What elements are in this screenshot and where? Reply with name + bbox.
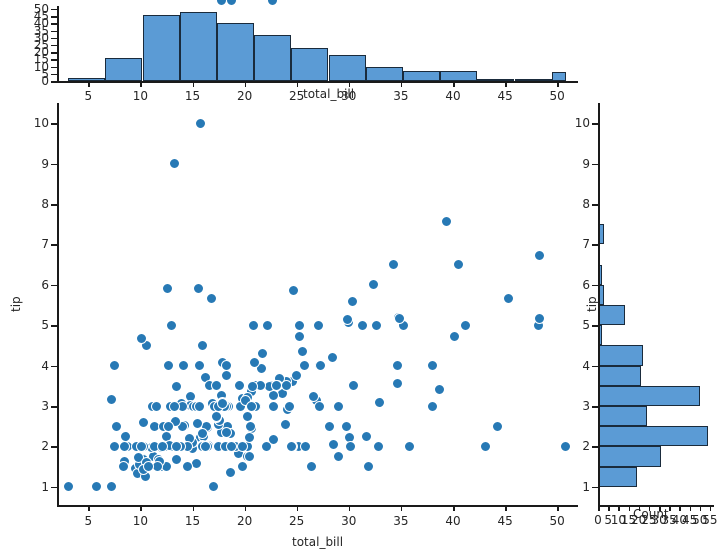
main-x-tick <box>193 505 195 511</box>
scatter-point <box>327 352 338 363</box>
right-x-tick <box>679 505 681 511</box>
scatter-point <box>109 441 120 452</box>
right-y-tick <box>592 446 598 448</box>
right-histogram-y-label: tip <box>586 296 598 312</box>
right-y-tick <box>592 487 598 489</box>
scatter-point <box>163 360 174 371</box>
right-x-tick <box>618 505 620 511</box>
right-histogram-bar <box>598 426 708 446</box>
scatter-point <box>300 441 311 452</box>
right-histogram-bar <box>598 386 700 406</box>
right-x-tick <box>598 505 600 511</box>
scatter-point <box>244 451 255 462</box>
scatter-point <box>217 398 228 409</box>
scatter-point <box>225 467 236 478</box>
scatter-point <box>166 320 177 331</box>
scatter-point <box>268 390 279 401</box>
scatter-point <box>286 441 297 452</box>
scatter-point <box>348 380 359 391</box>
scatter-point <box>460 320 471 331</box>
main-x-tick <box>401 505 403 511</box>
right-x-tick <box>669 505 671 511</box>
right-y-tick-label: 9 <box>568 158 590 170</box>
main-y-tick-label: 6 <box>27 279 49 291</box>
right-y-tick <box>592 164 598 166</box>
right-x-tick-label: 55 <box>701 514 719 526</box>
main-x-tick-label: 30 <box>340 515 358 527</box>
right-histogram-bar <box>598 446 661 466</box>
scatter-point <box>324 421 335 432</box>
scatter-point <box>109 360 120 371</box>
scatter-point <box>492 421 503 432</box>
scatter-point <box>388 259 399 270</box>
scatter-point <box>371 320 382 331</box>
scatter-point <box>226 0 237 6</box>
main-x-tick-label: 15 <box>184 515 202 527</box>
right-y-tick-label: 3 <box>568 400 590 412</box>
main-x-tick-label: 35 <box>392 515 410 527</box>
scatter-point <box>245 421 256 432</box>
right-y-tick-label: 2 <box>568 440 590 452</box>
main-x-tick <box>453 505 455 511</box>
main-y-tick-label: 5 <box>27 319 49 331</box>
main-y-tick-label: 4 <box>27 360 49 372</box>
scatter-point <box>200 441 211 452</box>
main-y-tick <box>51 204 57 206</box>
scatter-point <box>162 283 173 294</box>
scatter-point <box>182 461 193 472</box>
right-y-tick-label: 8 <box>568 198 590 210</box>
scatter-point <box>171 441 182 452</box>
scatter-point <box>291 370 302 381</box>
scatter-point <box>171 381 182 392</box>
scatter-point <box>136 333 147 344</box>
scatter-point <box>394 313 405 324</box>
scatter-point <box>333 401 344 412</box>
scatter-point <box>143 461 154 472</box>
main-y-tick-label: 7 <box>27 238 49 250</box>
scatter-point <box>211 411 222 422</box>
right-y-tick <box>592 204 598 206</box>
scatter-point <box>503 293 514 304</box>
scatter-point <box>171 454 182 465</box>
scatter-point <box>163 421 174 432</box>
scatter-point <box>342 314 353 325</box>
main-x-tick <box>245 505 247 511</box>
main-x-tick-label: 40 <box>444 515 462 527</box>
scatter-point <box>197 340 208 351</box>
main-x-spine <box>57 505 578 507</box>
main-x-tick <box>88 505 90 511</box>
scatter-point <box>234 380 245 391</box>
right-x-tick <box>690 505 692 511</box>
main-x-tick-label: 25 <box>288 515 306 527</box>
scatter-point <box>191 458 202 469</box>
right-y-tick-label: 7 <box>568 238 590 250</box>
scatter-point <box>138 417 149 428</box>
scatter-point <box>281 380 292 391</box>
scatter-point <box>118 461 129 472</box>
main-y-tick-label: 2 <box>27 440 49 452</box>
scatter-point <box>294 320 305 331</box>
main-x-tick <box>505 505 507 511</box>
scatter-point <box>313 320 324 331</box>
right-y-tick-label: 1 <box>568 481 590 493</box>
jointplot-figure: 05101520253035404550 5101520253035404550… <box>0 0 723 559</box>
scatter-point <box>246 401 257 412</box>
scatter-point <box>194 401 205 412</box>
main-x-tick-label: 5 <box>79 515 97 527</box>
right-y-tick-label: 6 <box>568 279 590 291</box>
main-scatter-panel: 510152025303540455012345678910 total_bil… <box>0 0 600 540</box>
scatter-point <box>453 259 464 270</box>
scatter-point <box>242 411 253 422</box>
scatter-point <box>392 378 403 389</box>
main-x-tick-label: 20 <box>236 515 254 527</box>
scatter-point <box>169 401 180 412</box>
scatter-point <box>268 401 279 412</box>
right-histogram-x-label: Count <box>633 508 669 520</box>
main-y-tick <box>51 285 57 287</box>
scatter-point <box>194 360 205 371</box>
main-y-tick <box>51 244 57 246</box>
main-y-tick <box>51 325 57 327</box>
scatter-point <box>262 320 273 331</box>
main-x-tick-label: 10 <box>131 515 149 527</box>
right-y-tick <box>592 406 598 408</box>
right-y-tick-label: 4 <box>568 360 590 372</box>
scatter-point <box>314 401 325 412</box>
scatter-point <box>261 441 272 452</box>
right-histogram-bar <box>598 467 637 487</box>
right-y-tick-label: 5 <box>568 319 590 331</box>
right-y-tick <box>592 285 598 287</box>
right-y-tick <box>592 244 598 246</box>
main-y-tick <box>51 406 57 408</box>
scatter-point <box>427 360 438 371</box>
scatter-point <box>534 250 545 261</box>
main-y-tick <box>51 487 57 489</box>
scatter-point <box>106 481 117 492</box>
scatter-point <box>306 461 317 472</box>
right-y-tick <box>592 366 598 368</box>
right-histogram-bar <box>598 406 647 426</box>
scatter-point <box>63 481 74 492</box>
scatter-point <box>257 348 268 359</box>
main-y-tick-label: 10 <box>27 117 49 129</box>
right-y-tick-label: 10 <box>568 117 590 129</box>
main-x-tick-label: 50 <box>548 515 566 527</box>
scatter-point <box>284 401 295 412</box>
main-x-tick-label: 45 <box>496 515 514 527</box>
main-x-tick <box>557 505 559 511</box>
scatter-point <box>297 346 308 357</box>
scatter-point <box>151 401 162 412</box>
scatter-point <box>404 441 415 452</box>
scatter-point <box>237 441 248 452</box>
main-x-label: total_bill <box>292 536 343 548</box>
main-y-tick-label: 3 <box>27 400 49 412</box>
right-x-tick <box>608 505 610 511</box>
main-x-tick <box>349 505 351 511</box>
main-y-tick-label: 8 <box>27 198 49 210</box>
right-y-tick <box>592 325 598 327</box>
scatter-point <box>361 431 372 442</box>
scatter-point <box>136 441 147 452</box>
scatter-point <box>221 427 232 438</box>
scatter-point <box>206 293 217 304</box>
right-x-tick <box>700 505 702 511</box>
scatter-point <box>208 481 219 492</box>
scatter-point <box>248 320 259 331</box>
scatter-point <box>345 441 356 452</box>
scatter-point <box>288 285 299 296</box>
scatter-point <box>328 439 339 450</box>
scatter-point <box>193 283 204 294</box>
right-histogram-bar <box>598 366 641 386</box>
right-x-tick <box>710 505 712 511</box>
scatter-point <box>299 360 310 371</box>
main-y-label: tip <box>10 296 22 312</box>
scatter-point <box>249 357 260 368</box>
right-x-tick <box>629 505 631 511</box>
main-y-tick-label: 1 <box>27 481 49 493</box>
scatter-point <box>106 394 117 405</box>
scatter-point <box>347 296 358 307</box>
right-histogram-bar <box>598 305 625 325</box>
scatter-point <box>244 432 255 443</box>
scatter-point <box>480 441 491 452</box>
scatter-point <box>534 313 545 324</box>
scatter-point <box>333 451 344 462</box>
right-y-tick <box>592 123 598 125</box>
main-x-tick <box>140 505 142 511</box>
scatter-point <box>226 441 237 452</box>
scatter-point <box>363 461 374 472</box>
scatter-point <box>368 279 379 290</box>
scatter-point <box>373 441 384 452</box>
scatter-point <box>267 0 278 6</box>
scatter-point <box>195 118 206 129</box>
main-y-tick <box>51 164 57 166</box>
scatter-point <box>169 158 180 169</box>
scatter-point <box>434 384 445 395</box>
main-y-tick <box>51 123 57 125</box>
right-histogram-bar <box>598 345 643 365</box>
main-y-tick <box>51 366 57 368</box>
right-marginal-histogram: 12345678910 0510152025303540455055 Count… <box>578 0 723 559</box>
scatter-point <box>315 360 326 371</box>
scatter-point <box>237 461 248 472</box>
main-y-tick <box>51 446 57 448</box>
main-y-spine <box>57 103 59 505</box>
scatter-point <box>374 397 385 408</box>
scatter-point <box>178 360 189 371</box>
main-x-tick <box>297 505 299 511</box>
scatter-point <box>111 421 122 432</box>
scatter-point <box>221 370 232 381</box>
scatter-point <box>91 481 102 492</box>
scatter-point <box>280 419 291 430</box>
scatter-point <box>357 320 368 331</box>
main-y-tick-label: 9 <box>27 158 49 170</box>
scatter-point <box>392 360 403 371</box>
scatter-point <box>441 216 452 227</box>
scatter-point <box>294 331 305 342</box>
scatter-point <box>449 331 460 342</box>
scatter-point <box>427 401 438 412</box>
scatter-point <box>341 421 352 432</box>
